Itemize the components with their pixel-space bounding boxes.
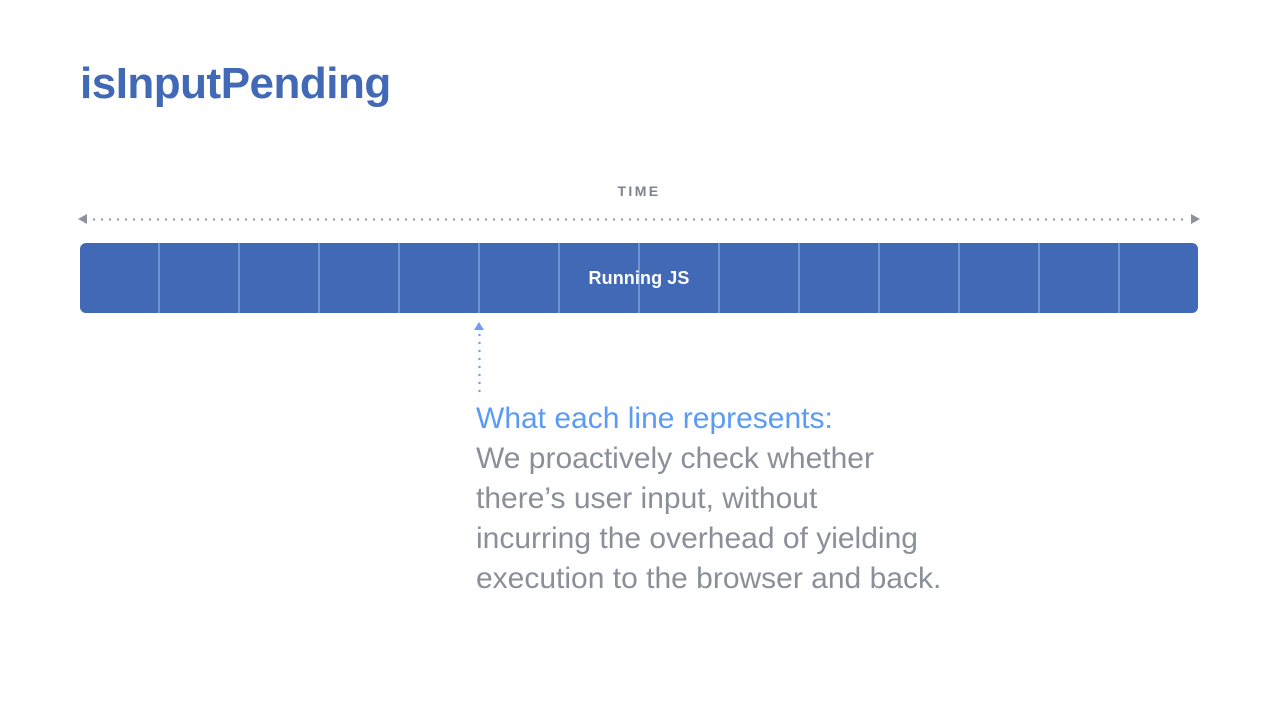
bar-divider [398,243,400,313]
bar-divider [558,243,560,313]
time-axis-dotted-line [90,218,1188,221]
bar-divider [878,243,880,313]
time-axis-line [78,214,1200,226]
bar-divider [238,243,240,313]
callout-body-line: We proactively check whether [476,439,996,479]
page-title: isInputPending [80,60,391,108]
callout-arrowhead-icon [474,322,484,330]
callout-body-line: execution to the browser and back. [476,559,996,599]
bar-divider [318,243,320,313]
callout-text-block: What each line represents: We proactivel… [476,399,996,599]
bar-divider [158,243,160,313]
bar-divider [958,243,960,313]
bar-divider [478,243,480,313]
bar-divider [638,243,640,313]
callout-dotted-line [478,331,481,398]
bar-divider [1118,243,1120,313]
arrow-left-icon [78,214,87,224]
callout-body-line: incurring the overhead of yielding [476,519,996,559]
running-js-bar: Running JS [80,243,1198,313]
bar-divider [798,243,800,313]
arrow-up-dotted-icon [471,322,487,398]
bar-divider [1038,243,1040,313]
time-axis-label: TIME [78,183,1200,199]
arrow-right-icon [1191,214,1200,224]
callout-body-line: there’s user input, without [476,479,996,519]
time-axis: TIME [78,183,1200,227]
bar-divider [718,243,720,313]
callout-heading: What each line represents: [476,399,996,439]
